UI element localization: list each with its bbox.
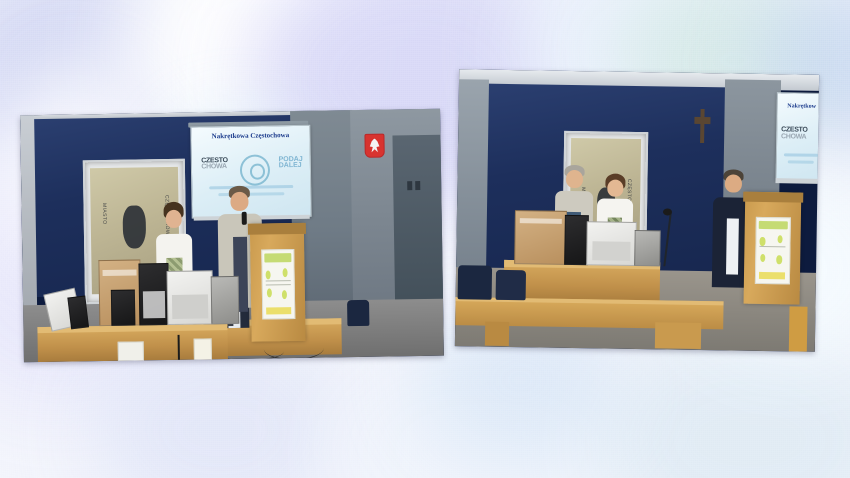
poster-header — [759, 221, 788, 230]
footer: CZESTO CHOWA „NAKRĘTKOWA CZĘSTOCHOWA” Za… — [0, 368, 850, 478]
lectern-poster — [261, 249, 295, 320]
cross-horizontal — [694, 117, 710, 124]
projection-screen-right: Nakrętkow CZESTO CHOWA — [775, 92, 819, 181]
tapestry-text-left: MIASTO — [101, 203, 107, 225]
box-image — [592, 241, 631, 260]
screen-subtitle-bar — [787, 160, 814, 163]
screen-logo-czesto: CZESTO CHOWA — [201, 158, 228, 172]
poster-dot — [760, 254, 765, 263]
screen-bottom-bar — [775, 178, 819, 184]
white-box — [586, 221, 637, 266]
poster-dot — [265, 271, 270, 280]
grey-wall — [456, 79, 489, 279]
wooden-cross-icon — [694, 109, 711, 143]
screen-logo-podaj: PODAJ DALEJ — [279, 156, 303, 170]
lectern-top — [248, 223, 306, 235]
panel-detail — [415, 181, 420, 190]
chair — [496, 270, 526, 300]
tapestry-emblem — [122, 205, 146, 248]
cardboard-box — [514, 210, 567, 265]
head — [566, 170, 583, 188]
chair — [347, 300, 369, 326]
poster-dot — [266, 289, 271, 298]
box-label — [520, 218, 562, 224]
chair — [458, 265, 493, 300]
lectern-poster — [755, 216, 791, 283]
microphone — [663, 208, 672, 215]
lectern-right — [744, 192, 802, 305]
microphone — [242, 212, 247, 225]
box-image — [172, 295, 208, 319]
poster-dot — [777, 235, 782, 244]
screen-logo-czesto: CZESTO CHOWA — [781, 128, 808, 142]
shirt — [726, 219, 738, 275]
head — [166, 210, 182, 228]
photo-left: MIASTO CZĘSTOCHOWA Nakrętkowa Częstochow… — [20, 109, 444, 363]
grey-box — [634, 230, 661, 266]
white-box — [167, 270, 214, 325]
panel-detail — [407, 181, 412, 190]
poster-dot — [776, 255, 781, 264]
bench-leg — [789, 306, 808, 351]
screen-subtitle-bar — [784, 153, 819, 157]
screen-circle-graphic — [240, 154, 270, 185]
poster-footer — [759, 272, 785, 279]
poster-header — [264, 253, 292, 262]
grey-box — [211, 276, 240, 324]
poster-footer — [266, 308, 291, 315]
small-black-box — [111, 290, 136, 326]
photo-right: Nakrętkow CZESTO CHOWA MIASTO CZĘSTOCHOW… — [455, 69, 819, 352]
small-black-box — [67, 295, 89, 329]
lectern-left — [250, 223, 306, 342]
poster-dot — [760, 237, 765, 246]
box-label — [103, 269, 137, 276]
poster-line — [266, 284, 291, 285]
poster-line — [266, 280, 291, 281]
screen-title: Nakrętkowa Częstochowa — [191, 131, 309, 141]
poster-dot — [282, 290, 287, 299]
microphone-stand — [178, 335, 180, 360]
bench-leg — [655, 322, 701, 349]
lectern-top — [743, 192, 804, 203]
bench-leg — [485, 322, 509, 346]
black-box — [138, 263, 169, 325]
head — [725, 174, 742, 192]
polish-eagle-emblem-icon — [364, 134, 384, 158]
screen-title: Nakrętkow — [778, 104, 820, 111]
table-sign — [118, 341, 144, 361]
collage-canvas: MIASTO CZĘSTOCHOWA Nakrętkowa Częstochow… — [0, 0, 850, 478]
box-image — [143, 291, 166, 318]
screen-logo-right-line2: DALEJ — [279, 163, 303, 170]
screen-logo-line2: CHOWA — [781, 134, 808, 141]
black-box — [564, 215, 589, 265]
poster-dot — [282, 268, 287, 277]
table-sign — [194, 338, 212, 360]
poster-line — [760, 246, 786, 247]
head — [607, 180, 623, 197]
screen-logo-line2: CHOWA — [201, 164, 228, 171]
head — [230, 192, 248, 211]
side-panel — [392, 135, 443, 306]
cross-vertical — [700, 109, 704, 143]
